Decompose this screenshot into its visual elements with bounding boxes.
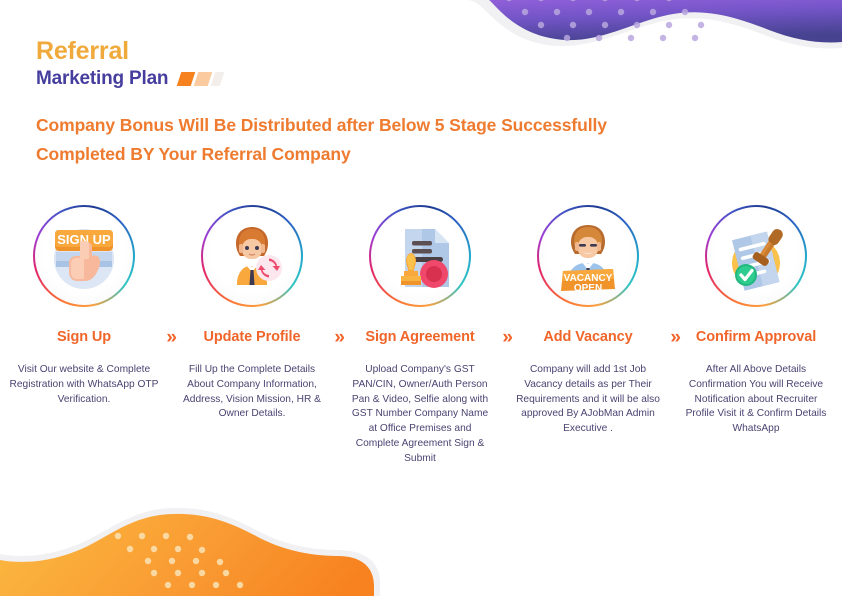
user-profile-refresh-icon — [203, 207, 301, 305]
step-label-row: Sign Up » — [0, 329, 168, 345]
step-description: Company will add 1st Job Vacancy details… — [511, 363, 665, 437]
accent-bar-mid-icon — [194, 72, 213, 86]
step-description: Visit Our website & Complete Registratio… — [8, 363, 160, 407]
subheading-text: Company Bonus Will Be Distributed after … — [36, 111, 656, 168]
step-card-confirm-approval[interactable]: Confirm Approval After All Above Details… — [672, 205, 840, 437]
step-label-row: Sign Agreement » — [336, 329, 504, 345]
page-title-referral: Referral — [36, 36, 222, 66]
step-description: After All Above Details Confirmation You… — [679, 363, 833, 437]
step-icon-ring — [705, 205, 807, 307]
step-label-row: Update Profile » — [168, 329, 336, 345]
document-stamp-seal-icon — [371, 207, 469, 305]
step-card-update-profile[interactable]: Update Profile » Fill Up the Complete De… — [168, 205, 336, 422]
referral-marketing-plan-infographic: Referral Marketing Plan Company Bonus Wi… — [0, 0, 842, 596]
step-label-row: Confirm Approval — [672, 329, 840, 345]
purple-wave-blob-decoration — [437, 0, 842, 80]
sign-up-button-hand-click-icon: SIGN UP — [35, 207, 133, 305]
step-label-row: Add Vacancy » — [504, 329, 672, 345]
step-description: Upload Company's GST PAN/CIN, Owner/Auth… — [347, 363, 493, 467]
step-description: Fill Up the Complete Details About Compa… — [179, 363, 325, 422]
page-subtitle-row: Marketing Plan — [36, 67, 222, 91]
step-card-add-vacancy[interactable]: VACANCY OPEN Add Vacancy » Company will … — [504, 205, 672, 437]
step-label: Add Vacancy — [543, 329, 632, 345]
step-label: Sign Up — [57, 329, 111, 345]
steps-row: SIGN UP Sign Up » Visit Our website & Co… — [0, 205, 842, 467]
vacancy-sign-line2-text: OPEN — [574, 283, 602, 294]
step-icon-ring — [201, 205, 303, 307]
orange-dot-pattern — [115, 533, 243, 588]
step-card-sign-agreement[interactable]: Sign Agreement » Upload Company's GST PA… — [336, 205, 504, 467]
accent-bar-pale-icon — [211, 72, 225, 86]
accent-bars-decoration — [179, 72, 222, 86]
step-label: Confirm Approval — [696, 329, 816, 345]
header-block: Referral Marketing Plan — [36, 36, 222, 91]
step-card-sign-up[interactable]: SIGN UP Sign Up » Visit Our website & Co… — [0, 205, 168, 407]
purple-dot-pattern — [506, 0, 704, 41]
approved-document-checkmark-stamp-icon — [707, 207, 805, 305]
orange-wave-blob-decoration — [0, 496, 400, 596]
accent-bar-solid-icon — [177, 72, 196, 86]
page-title-marketing-plan: Marketing Plan — [36, 67, 168, 91]
step-label: Update Profile — [204, 329, 301, 345]
step-label: Sign Agreement — [365, 329, 474, 345]
step-icon-ring — [369, 205, 471, 307]
step-icon-ring: VACANCY OPEN — [537, 205, 639, 307]
step-icon-ring: SIGN UP — [33, 205, 135, 307]
man-holding-vacancy-open-sign-icon: VACANCY OPEN — [539, 207, 637, 305]
